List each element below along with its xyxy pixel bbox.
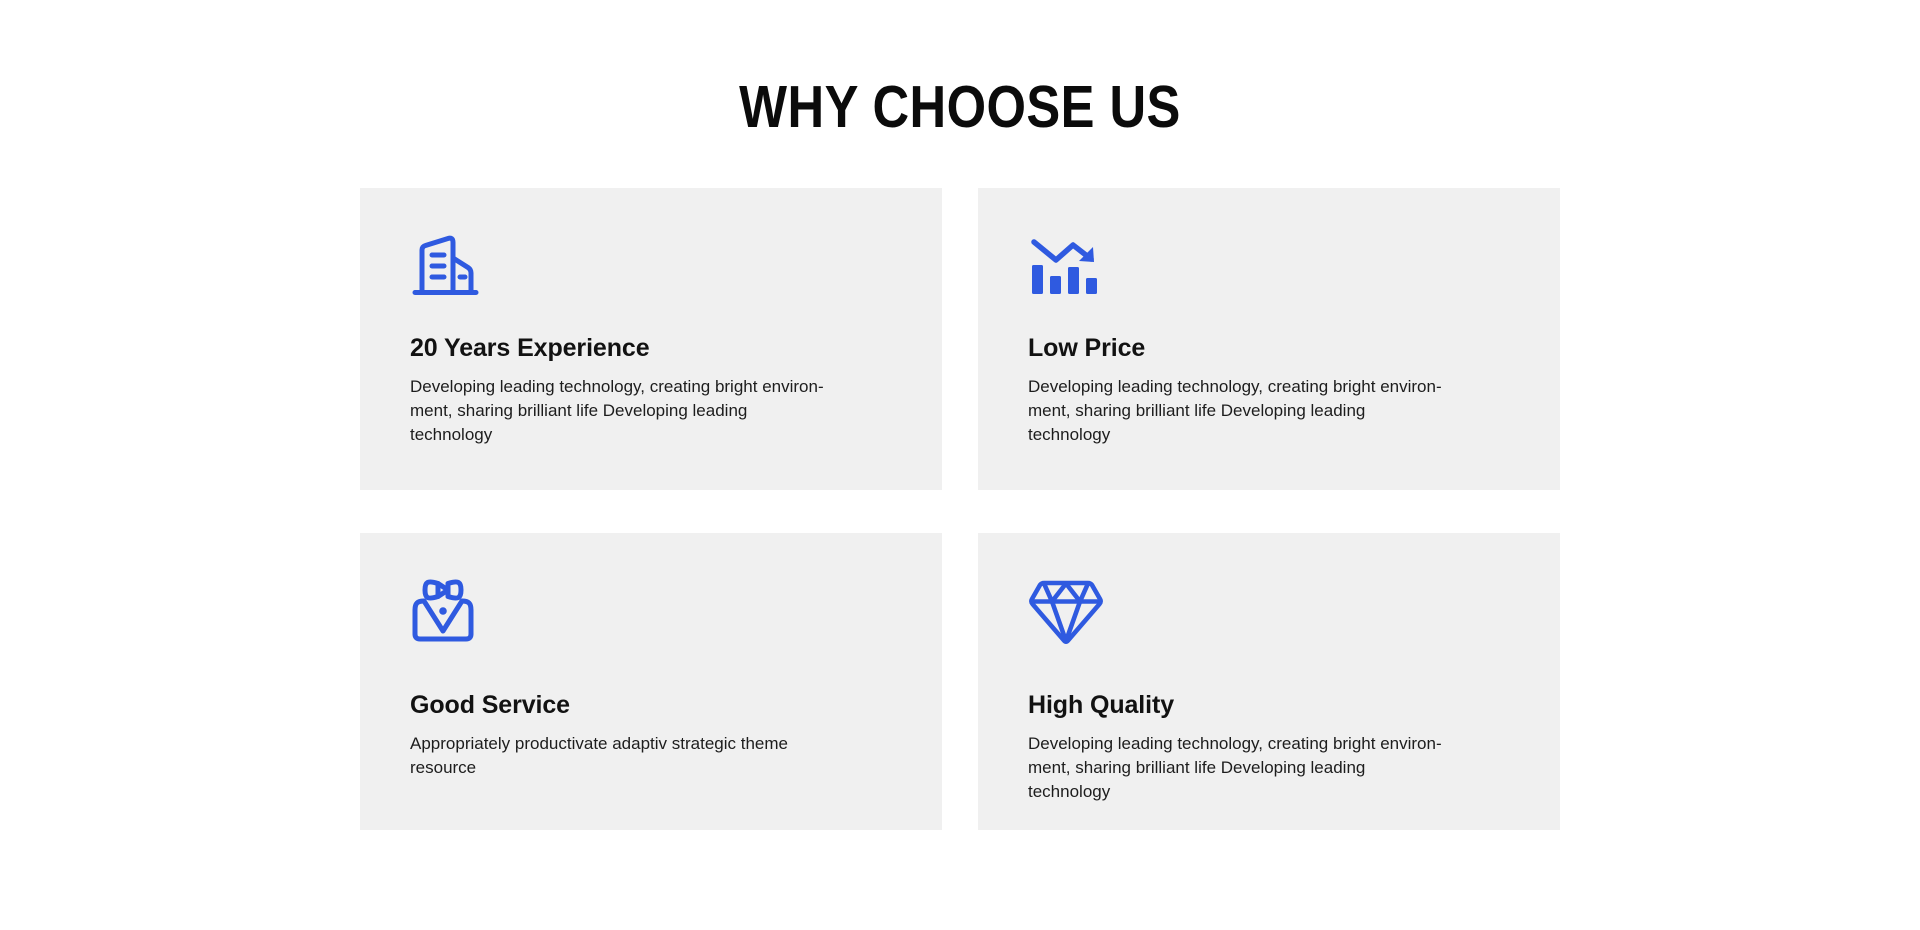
- page-title: WHY CHOOSE US: [134, 78, 1785, 137]
- card-description: Developing leading technology, creating …: [410, 375, 830, 447]
- bowtie-suit-icon: [410, 579, 892, 645]
- feature-card-low-price[interactable]: Low Price Developing leading technology,…: [978, 188, 1560, 490]
- card-description: Appropriately productivate adaptiv strat…: [410, 732, 830, 780]
- feature-card-high-quality[interactable]: High Quality Developing leading technolo…: [978, 533, 1560, 830]
- card-title: Good Service: [410, 691, 892, 720]
- feature-card-good-service[interactable]: Good Service Appropriately productivate …: [360, 533, 942, 830]
- card-description: Developing leading technology, creating …: [1028, 732, 1448, 804]
- card-description: Developing leading technology, creating …: [1028, 375, 1448, 447]
- feature-card-20-years-experience[interactable]: 20 Years Experience Developing leading t…: [360, 188, 942, 490]
- card-title: 20 Years Experience: [410, 334, 892, 363]
- feature-card-grid: 20 Years Experience Developing leading t…: [360, 188, 1560, 830]
- declining-bar-chart-icon: [1028, 234, 1510, 300]
- why-choose-us-section: WHY CHOOSE US 20 Years Experience Develo…: [0, 0, 1920, 930]
- diamond-icon: [1028, 579, 1510, 645]
- card-title: High Quality: [1028, 691, 1510, 720]
- building-icon: [410, 234, 892, 300]
- card-title: Low Price: [1028, 334, 1510, 363]
